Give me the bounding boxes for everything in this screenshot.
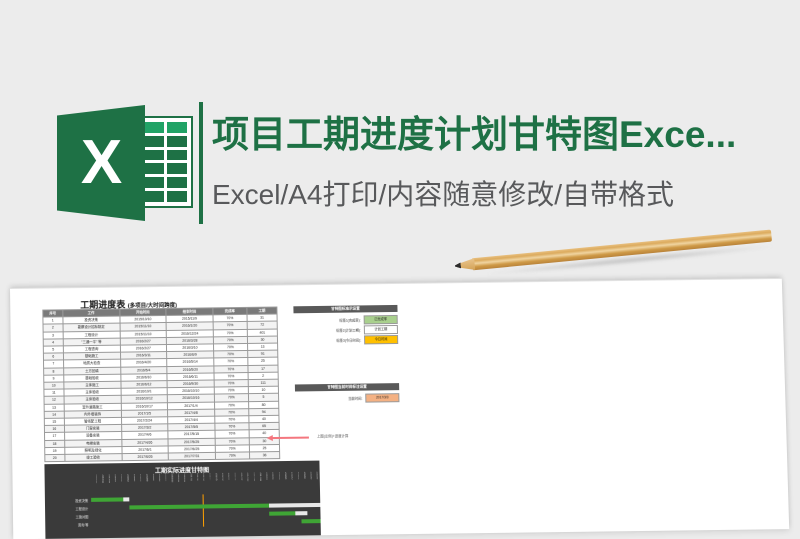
poster-stage: X 项目工期进度计划甘特图Exce... Excel/A4打印/内容随意修改/自… — [0, 0, 800, 526]
document-preview: 工期进度表 (多项目/大时间跨度) 序号工作开始时间结束时间完成率工期 1投资决… — [10, 278, 789, 539]
gantt-legend-panel: 甘特图标准示设置 标签1(完成率):已完成率标签2(计划工期):计划工期标签3(… — [293, 305, 398, 348]
today-date-row: 当前时间: 2017/3/3 — [295, 393, 399, 402]
legend-row: 标签3(今日时间):今日时间 — [294, 335, 398, 344]
gantt-track — [91, 517, 320, 528]
schedule-table: 序号工作开始时间结束时间完成率工期 1投资决策2015/10/102015/11… — [42, 307, 280, 463]
gantt-bar-done — [269, 511, 295, 516]
gantt-bar-done — [129, 503, 269, 509]
table-cell: 70% — [215, 452, 249, 460]
gantt-today-panel: 甘特图当前时间标注设置 当前时间: 2017/3/3 — [295, 383, 400, 406]
gantt-chart: 工期实际进度甘特图 2015/102015/112015/122016/1201… — [44, 461, 321, 539]
gantt-bar-done — [91, 497, 123, 502]
legend-swatch[interactable]: 计划工期 — [364, 324, 398, 333]
gantt-date-tick: 2018/9 — [311, 472, 318, 492]
table-cell: 20 — [45, 454, 65, 462]
pencil-tip-icon — [455, 262, 462, 269]
gantt-date-axis: 2015/102015/112015/122016/12016/22016/32… — [91, 472, 318, 495]
gantt-row-label: 工施对图 — [45, 513, 91, 519]
excel-logo-letter: X — [57, 105, 145, 221]
today-date-label: 当前时间: — [348, 395, 362, 400]
legend-swatch[interactable]: 已完成率 — [364, 314, 398, 323]
page-subtitle: Excel/A4打印/内容随意修改/自带格式 — [212, 173, 792, 217]
today-date-value[interactable]: 2017/3/3 — [365, 393, 399, 402]
excel-logo-icon: X — [55, 102, 195, 224]
legend-row: 标签1(完成率):已完成率 — [294, 315, 398, 324]
gantt-bar-remaining — [295, 511, 308, 516]
pencil-decoration — [454, 225, 775, 278]
legend-label: 标签3(今日时间): — [336, 337, 361, 342]
gantt-row-label: 投资决策 — [45, 497, 91, 503]
legend-label: 标签1(完成率): — [339, 317, 361, 322]
excel-logo-sheet — [137, 116, 193, 208]
gantt-bar-done — [301, 518, 321, 523]
annotation-text: 上图(左侧)+进度计算 — [317, 432, 349, 440]
poster-header: X 项目工期进度计划甘特图Exce... Excel/A4打印/内容随意修改/自… — [0, 45, 800, 195]
legend-row: 标签2(计划工期):计划工期 — [294, 325, 398, 334]
legend-label: 标签2(计划工期): — [336, 327, 361, 332]
gantt-row-label: 咨询 等 — [45, 522, 91, 528]
gantt-bar-remaining — [123, 497, 129, 502]
gantt-row-label: 工程设计 — [45, 505, 91, 511]
annotation-arrow: 上图(左侧)+进度计算 — [259, 432, 380, 444]
header-divider — [199, 102, 203, 224]
gantt-bar-remaining — [269, 501, 321, 508]
arrow-line — [273, 437, 309, 439]
page-title: 项目工期进度计划甘特图Exce... — [212, 107, 792, 163]
table-cell: 2017/7/31 — [168, 452, 215, 460]
table-cell: 2017/6/26 — [122, 453, 169, 461]
table-cell: 竣工验收 — [65, 454, 122, 462]
legend-swatch[interactable]: 今日时间 — [364, 334, 398, 343]
table-cell: 36 — [249, 452, 279, 460]
